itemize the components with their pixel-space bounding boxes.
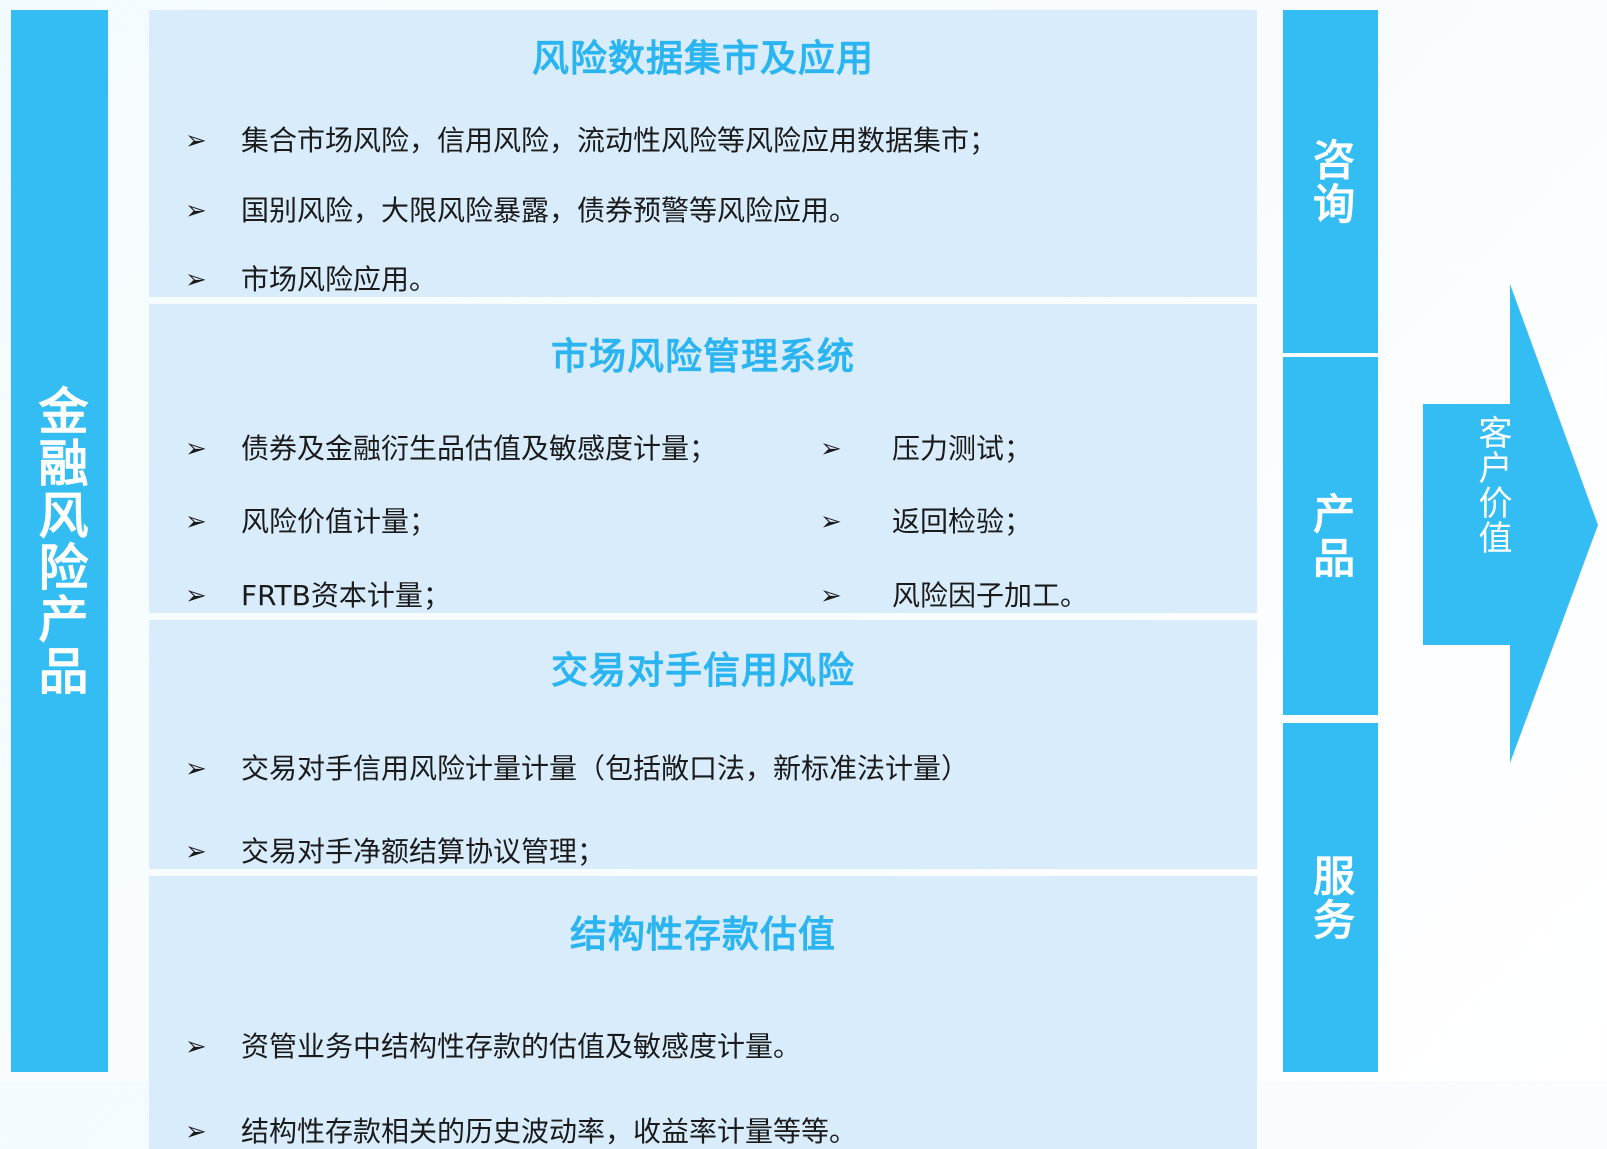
section-divider: [149, 613, 1257, 620]
list-item[interactable]: ➢ 风险因子加工。: [792, 579, 1239, 613]
arrow-bullet-icon: ➢: [167, 754, 241, 785]
bullet-list: ➢ 资管业务中结构性存款的估值及敏感度计量。 ➢ 结构性存款相关的历史波动率，收…: [167, 1030, 1239, 1149]
list-item-label: 风险因子加工。: [892, 579, 1239, 613]
bullet-column-right: ➢ 压力测试； ➢ 返回检验； ➢ 风险因子加工。: [792, 432, 1239, 613]
service-stage-column: 咨询 产品 服务: [1283, 10, 1378, 1072]
arrow-bullet-icon: ➢: [167, 581, 241, 612]
list-item-label: FRTB资本计量；: [241, 579, 792, 613]
bullet-list: ➢ 集合市场风险，信用风险，流动性风险等风险应用数据集市； ➢ 国别风险，大限风…: [167, 124, 1239, 297]
customer-value-arrow[interactable]: 客户价值: [1400, 270, 1607, 780]
arrow-bullet-icon: ➢: [167, 196, 241, 227]
list-item[interactable]: ➢ 交易对手信用风险计量计量（包括敞口法，新标准法计量）: [167, 752, 1239, 786]
arrow-bullet-icon: ➢: [167, 837, 241, 868]
slide-canvas: 金融风险产品 风险数据集市及应用 ➢ 集合市场风险，信用风险，流动性风险等风险应…: [0, 0, 1607, 1081]
list-item[interactable]: ➢ 压力测试；: [792, 432, 1239, 466]
list-item-label: 集合市场风险，信用风险，流动性风险等风险应用数据集市；: [241, 124, 1239, 158]
list-item-label: 债券及金融衍生品估值及敏感度计量；: [241, 432, 792, 466]
section-divider: [149, 869, 1257, 876]
arrow-bullet-icon: ➢: [792, 581, 892, 612]
list-item-label: 压力测试；: [892, 432, 1239, 466]
list-item[interactable]: ➢ 返回检验；: [792, 505, 1239, 539]
arrow-bullet-icon: ➢: [167, 265, 241, 296]
arrow-bullet-icon: ➢: [167, 1117, 241, 1148]
content-panel: 风险数据集市及应用 ➢ 集合市场风险，信用风险，流动性风险等风险应用数据集市； …: [149, 10, 1257, 1072]
stage-label: 咨询: [1307, 138, 1353, 226]
list-item[interactable]: ➢ 债券及金融衍生品估值及敏感度计量；: [167, 432, 792, 466]
list-item[interactable]: ➢ 交易对手净额结算协议管理；: [167, 835, 1239, 869]
stage-label: 服务: [1307, 854, 1353, 942]
list-item-label: 市场风险应用。: [241, 263, 1239, 297]
section-counterparty-credit-risk[interactable]: 交易对手信用风险 ➢ 交易对手信用风险计量计量（包括敞口法，新标准法计量） ➢ …: [149, 620, 1257, 869]
list-item-label: 国别风险，大限风险暴露，债券预警等风险应用。: [241, 194, 1239, 228]
stage-label: 产品: [1307, 492, 1353, 580]
arrow-bullet-icon: ➢: [792, 434, 892, 465]
list-item-label: 结构性存款相关的历史波动率，收益率计量等等。: [241, 1115, 1239, 1149]
list-item-label: 风险价值计量；: [241, 505, 792, 539]
stage-divider: [1283, 715, 1378, 723]
arrow-bullet-icon: ➢: [167, 507, 241, 538]
bullet-column-left: ➢ 债券及金融衍生品估值及敏感度计量； ➢ 风险价值计量； ➢ FRTB资本计量…: [167, 432, 792, 613]
arrow-bullet-icon: ➢: [167, 126, 241, 157]
section-title: 风险数据集市及应用: [167, 28, 1239, 82]
list-item[interactable]: ➢ FRTB资本计量；: [167, 579, 792, 613]
stage-box-product[interactable]: 产品: [1283, 357, 1378, 715]
stage-box-consulting[interactable]: 咨询: [1283, 10, 1378, 353]
section-divider: [149, 297, 1257, 304]
section-title: 市场风险管理系统: [167, 326, 1239, 380]
list-item-label: 交易对手净额结算协议管理；: [241, 835, 1239, 869]
bullet-list: ➢ 债券及金融衍生品估值及敏感度计量； ➢ 风险价值计量； ➢ FRTB资本计量…: [167, 432, 1239, 613]
left-category-label: 金融风险产品: [32, 385, 88, 697]
list-item-label: 返回检验；: [892, 505, 1239, 539]
section-title: 结构性存款估值: [167, 904, 1239, 958]
list-item[interactable]: ➢ 市场风险应用。: [167, 263, 1239, 297]
list-item[interactable]: ➢ 风险价值计量；: [167, 505, 792, 539]
list-item-label: 资管业务中结构性存款的估值及敏感度计量。: [241, 1030, 1239, 1064]
arrow-bullet-icon: ➢: [792, 507, 892, 538]
section-structured-deposit-valuation[interactable]: 结构性存款估值 ➢ 资管业务中结构性存款的估值及敏感度计量。 ➢ 结构性存款相关…: [149, 876, 1257, 1149]
bullet-list: ➢ 交易对手信用风险计量计量（包括敞口法，新标准法计量） ➢ 交易对手净额结算协…: [167, 752, 1239, 869]
section-title: 交易对手信用风险: [167, 640, 1239, 694]
arrow-bullet-icon: ➢: [167, 434, 241, 465]
left-category-bar: 金融风险产品: [11, 10, 108, 1072]
customer-value-label: 客户价值: [1452, 415, 1512, 555]
section-risk-data-mart[interactable]: 风险数据集市及应用 ➢ 集合市场风险，信用风险，流动性风险等风险应用数据集市； …: [149, 10, 1257, 297]
list-item-label: 交易对手信用风险计量计量（包括敞口法，新标准法计量）: [241, 752, 1239, 786]
list-item[interactable]: ➢ 集合市场风险，信用风险，流动性风险等风险应用数据集市；: [167, 124, 1239, 158]
list-item[interactable]: ➢ 资管业务中结构性存款的估值及敏感度计量。: [167, 1030, 1239, 1064]
list-item[interactable]: ➢ 国别风险，大限风险暴露，债券预警等风险应用。: [167, 194, 1239, 228]
stage-box-service[interactable]: 服务: [1283, 723, 1378, 1072]
section-market-risk-system[interactable]: 市场风险管理系统 ➢ 债券及金融衍生品估值及敏感度计量； ➢ 风险价值计量； ➢…: [149, 304, 1257, 613]
arrow-bullet-icon: ➢: [167, 1032, 241, 1063]
list-item[interactable]: ➢ 结构性存款相关的历史波动率，收益率计量等等。: [167, 1115, 1239, 1149]
